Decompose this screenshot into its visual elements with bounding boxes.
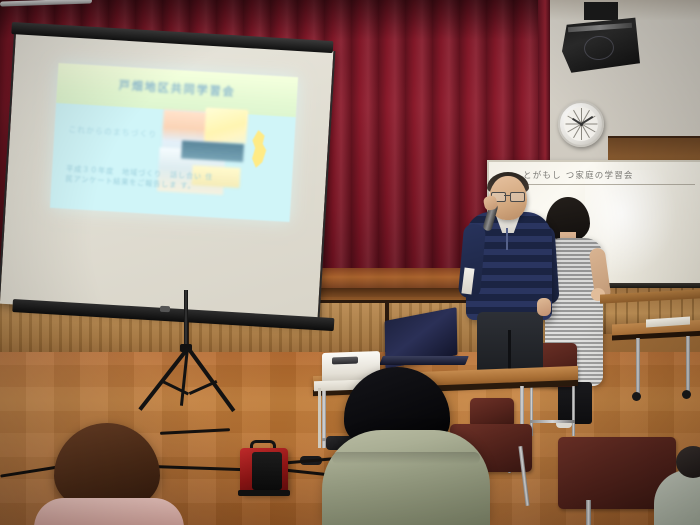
slide-map-icon xyxy=(249,130,269,169)
audience-pink-top xyxy=(34,498,184,525)
clock-face xyxy=(564,107,598,141)
table-caster xyxy=(632,392,641,401)
cable-reel-base xyxy=(238,490,290,496)
clock-center-pin xyxy=(580,123,583,126)
table-leg xyxy=(636,338,640,394)
stand-leg xyxy=(318,388,321,448)
presenter-zipper xyxy=(506,228,508,250)
chair-leg xyxy=(586,500,591,525)
chair-leg xyxy=(572,386,575,436)
laptop-keyboard xyxy=(379,356,469,365)
screen-pull-knob xyxy=(160,306,170,313)
presenter-right-hand xyxy=(537,298,551,316)
tripod-post xyxy=(184,290,188,352)
wall-pillar xyxy=(538,0,550,185)
table-leg xyxy=(686,336,690,394)
chair-rail xyxy=(530,420,575,423)
slide-subtitle: これからのまちづくり xyxy=(68,124,157,140)
wall-upper-band xyxy=(545,0,700,20)
projected-slide: 戸畑地区共同学習会 これからのまちづくり 平成３０年度 地域づくり 話し合い 住… xyxy=(50,63,298,222)
assistant-legs xyxy=(558,382,592,424)
presentation-scene-photo: とがもし つ家庭の学習会 戸畑地区共同学習会 これからのまちづくり 平成３０年度… xyxy=(0,0,700,525)
speaker-bracket xyxy=(584,2,618,20)
slide-photo-sea-band xyxy=(181,140,244,162)
whiteboard-underline xyxy=(523,184,695,185)
doorway xyxy=(608,136,700,160)
projector-lens-icon xyxy=(332,357,358,365)
presenter-leg-gap xyxy=(508,330,511,374)
cable-reel-drum xyxy=(252,452,282,490)
jacket-fold-shadow xyxy=(332,452,480,464)
table-caster xyxy=(682,390,691,399)
whiteboard-handwriting: とがもし つ家庭の学習会 xyxy=(523,169,699,184)
slide-photo-field xyxy=(204,108,248,144)
audience-green-jacket xyxy=(322,430,490,525)
wall-clock-icon xyxy=(558,101,604,147)
